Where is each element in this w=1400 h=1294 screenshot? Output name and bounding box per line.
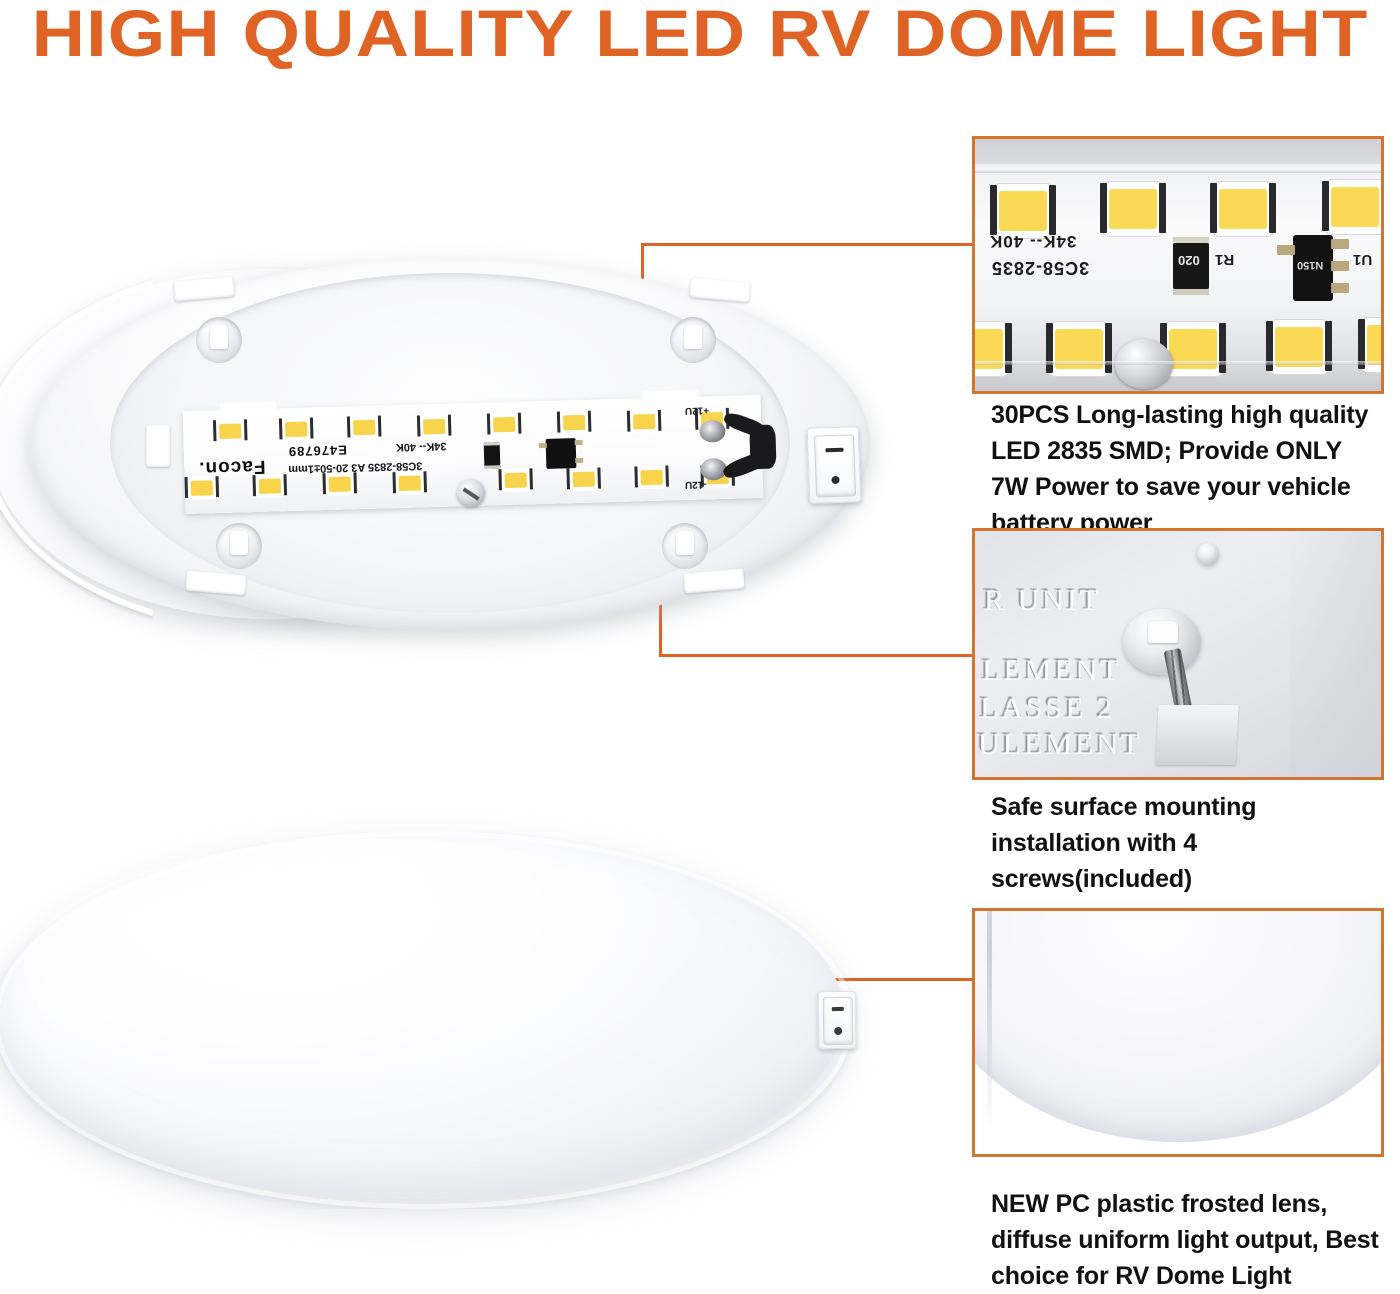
assembled-dome-product-view: [0, 825, 900, 1205]
led-bottom-1: [191, 480, 213, 496]
led-pcb-closeup-panel: 34K-- 40K 3C58-2835 020 R1 N150 U1: [972, 136, 1384, 394]
led-top-1: [219, 423, 241, 439]
secondary-mount-boss: [1197, 543, 1219, 565]
mounting-hole-top-right: [670, 317, 716, 363]
screw-mount-closeup-panel: R UNIT LEMENT LASSE 2 ULEMENT: [972, 528, 1384, 780]
led-bottom-6: [573, 472, 595, 488]
led-bottom-7: [641, 470, 663, 486]
housing-clip-left: [146, 425, 170, 467]
primary-mount-boss: [1123, 609, 1201, 675]
pcb-brand-label: Facon.: [198, 455, 266, 479]
strip-tab-top-right: [642, 390, 698, 400]
pcb-center-screw: [457, 479, 486, 508]
callout-1-horizontal-line: [641, 243, 972, 246]
led-top-3: [353, 420, 375, 436]
switch-off-mark-icon: [831, 476, 839, 484]
macro-transistor-ref-label: U1: [1353, 251, 1372, 268]
wire-bundle: [749, 425, 776, 470]
led-bottom-3: [329, 476, 351, 492]
pcb-bottom-seam: [975, 361, 1381, 365]
terminal-label-negative: -12U: [685, 478, 707, 490]
macro-transistor-value-label: N150: [1297, 259, 1323, 271]
open-fixture-product-view: Facon. E476789 3C58-2835 A3 20-50±1mm 34…: [0, 255, 900, 655]
rocker-power-switch-assembled[interactable]: [817, 991, 856, 1050]
housing-clip-bottom-right: [683, 568, 745, 593]
housing-mount-rail: [1155, 705, 1238, 765]
terminal-pad-positive: [699, 420, 726, 443]
macro-led-top-4: [1331, 187, 1379, 227]
led-top-7: [633, 414, 655, 430]
macro-led-top-3: [1219, 189, 1267, 229]
pcb-spec-label: 3C58-2835 A3 20-50±1mm: [288, 459, 422, 475]
macro-resistor-ref-label: R1: [1215, 251, 1234, 268]
pcb-ul-file-label: E476789: [288, 443, 347, 460]
feature-caption-led: 30PCS Long-lasting high quality LED 2835…: [991, 397, 1383, 541]
switch-on-mark-icon: [826, 448, 843, 453]
pcb-resistor-r1: [484, 442, 501, 468]
led-top-6: [563, 415, 585, 431]
switch-off-mark-icon-assembled: [834, 1027, 842, 1035]
frosted-lens-seam: [987, 908, 992, 1130]
macro-resistor-value-label: 020: [1178, 253, 1200, 268]
led-top-2: [285, 422, 307, 438]
led-top-4: [423, 419, 445, 435]
mount-boss-notch: [1148, 621, 1178, 643]
embossed-line-2: LEMENT: [981, 653, 1121, 687]
mounting-hole-bottom-right: [662, 523, 708, 569]
led-top-5: [493, 417, 515, 433]
frosted-lens-macro-photo: [975, 911, 1381, 1154]
rocker-switch-paddle[interactable]: [814, 435, 856, 498]
page-title: HIGH QUALITY LED RV DOME LIGHT: [0, 0, 1400, 70]
feature-caption-mounting: Safe surface mounting installation with …: [991, 789, 1383, 897]
switch-on-mark-icon-assembled: [831, 1007, 844, 1011]
mounting-hole-top-left: [196, 317, 242, 363]
screw-mount-macro-photo: R UNIT LEMENT LASSE 2 ULEMENT: [975, 531, 1381, 777]
pcb-top-seam: [975, 169, 1381, 173]
product-infographic: HIGH QUALITY LED RV DOME LIGHT: [0, 0, 1400, 1283]
macro-pcb-cct-label: 34K-- 40K: [989, 231, 1076, 251]
rocker-switch-paddle-assembled[interactable]: [823, 997, 853, 1045]
led-bottom-2: [259, 478, 281, 494]
rocker-power-switch[interactable]: [807, 426, 862, 504]
macro-pcb-part-label: 3C58-2835: [991, 257, 1089, 278]
embossed-line-3: LASSE 2: [979, 691, 1114, 725]
dome-lens-rim: [0, 831, 854, 1209]
led-pcb-strip: Facon. E476789 3C58-2835 A3 20-50±1mm 34…: [183, 395, 764, 514]
terminal-label-positive: +12U: [685, 404, 709, 416]
frosted-lens-surface: [972, 908, 1384, 1142]
frosted-lens-closeup-panel: [972, 908, 1384, 1157]
pcb-transistor-u1: [546, 438, 577, 469]
embossed-line-1: R UNIT: [983, 583, 1100, 617]
macro-led-top-1: [999, 191, 1047, 231]
pcb-macro-photo: 34K-- 40K 3C58-2835 020 R1 N150 U1: [975, 139, 1381, 391]
embossed-line-4: ULEMENT: [977, 727, 1141, 761]
pcb-cct-label: 34K-- 40K: [396, 440, 447, 453]
housing-side-shadow: [1289, 531, 1381, 777]
led-bottom-5: [505, 473, 527, 489]
led-bottom-4: [399, 475, 421, 491]
mounting-hole-bottom-left: [216, 523, 262, 569]
macro-led-top-2: [1109, 189, 1157, 229]
feature-caption-lens: NEW PC plastic frosted lens, diffuse uni…: [991, 1186, 1383, 1294]
strip-tab-top-left: [220, 401, 276, 411]
macro-led-bottom-5: [1367, 325, 1384, 365]
